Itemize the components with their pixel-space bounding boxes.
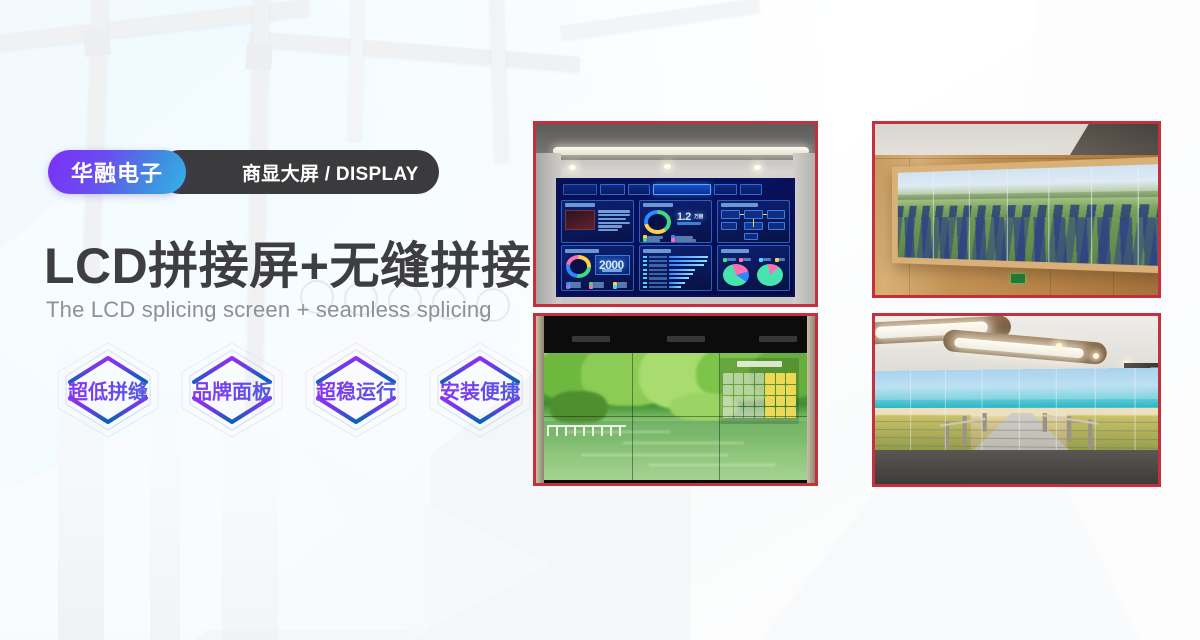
page-title: LCD拼接屏+无缝拼接 [44, 226, 531, 298]
photo-scene [875, 124, 1158, 295]
feature-label: 超低拼缝 [48, 376, 168, 405]
feature-item[interactable]: 超稳运行 [296, 336, 416, 444]
feature-item[interactable]: 安装便捷 [420, 336, 540, 444]
page-subtitle: The LCD splicing screen + seamless splic… [46, 297, 492, 323]
ceiling-beam [560, 0, 760, 40]
category-badge-label: 商显大屏 / DISPLAY [242, 159, 419, 186]
ceiling-beam [348, 0, 365, 140]
dashboard-header [561, 182, 790, 197]
feature-item[interactable]: 超低拼缝 [48, 336, 168, 444]
background-light-band [222, 410, 278, 640]
promo-banner: 商显大屏 / DISPLAY 华融电子 LCD拼接屏+无缝拼接 The LCD … [0, 0, 1200, 640]
feature-label: 品牌面板 [172, 376, 292, 405]
video-wall-screen [875, 368, 1161, 456]
photo-scene [536, 316, 815, 483]
exit-sign-icon [1011, 274, 1025, 283]
category-badge: 商显大屏 / DISPLAY [158, 150, 439, 194]
dashboard-panel [717, 200, 790, 244]
dashboard-panel: 1.2 万亩 [639, 200, 712, 244]
beam-joint [83, 29, 112, 58]
badge-row: 商显大屏 / DISPLAY 华融电子 [48, 150, 186, 194]
brand-badge-label: 华融电子 [71, 156, 163, 188]
ceiling-beam [250, 31, 580, 72]
video-wall-screen [898, 163, 1161, 267]
brand-badge: 华融电子 [48, 150, 186, 194]
dashboard-panel: 2000 [561, 245, 634, 291]
solar-farm-image [898, 163, 1161, 267]
feature-label: 超稳运行 [296, 376, 416, 405]
photo-scene: 1.2 万亩 [536, 124, 815, 304]
photo-scene [875, 316, 1158, 484]
video-wall-screen [544, 353, 806, 480]
feature-list: 超低拼缝 品牌面板 超稳运行 [48, 336, 540, 444]
product-photo-beach-wall[interactable] [872, 313, 1161, 487]
video-wall-frame [892, 155, 1161, 274]
product-photo-dashboard-wall[interactable]: 1.2 万亩 [533, 121, 818, 307]
dashboard-metric-unit: 万亩 [694, 213, 703, 220]
calendar-overlay [720, 358, 799, 424]
ceiling-beam [489, 0, 509, 162]
product-photo-solar-wall[interactable] [872, 121, 1161, 298]
feature-item[interactable]: 品牌面板 [172, 336, 292, 444]
video-wall-screen: 1.2 万亩 [556, 178, 796, 297]
feature-label: 安装便捷 [420, 376, 540, 405]
product-photo-pond-wall[interactable] [533, 313, 818, 486]
beam-joint [245, 43, 273, 71]
dashboard-panel [561, 200, 634, 244]
dashboard-screen: 1.2 万亩 [558, 180, 794, 295]
dashboard-pie-panel [717, 245, 790, 291]
video-wall-bezel [536, 316, 815, 353]
dashboard-bar-chart [639, 245, 712, 291]
